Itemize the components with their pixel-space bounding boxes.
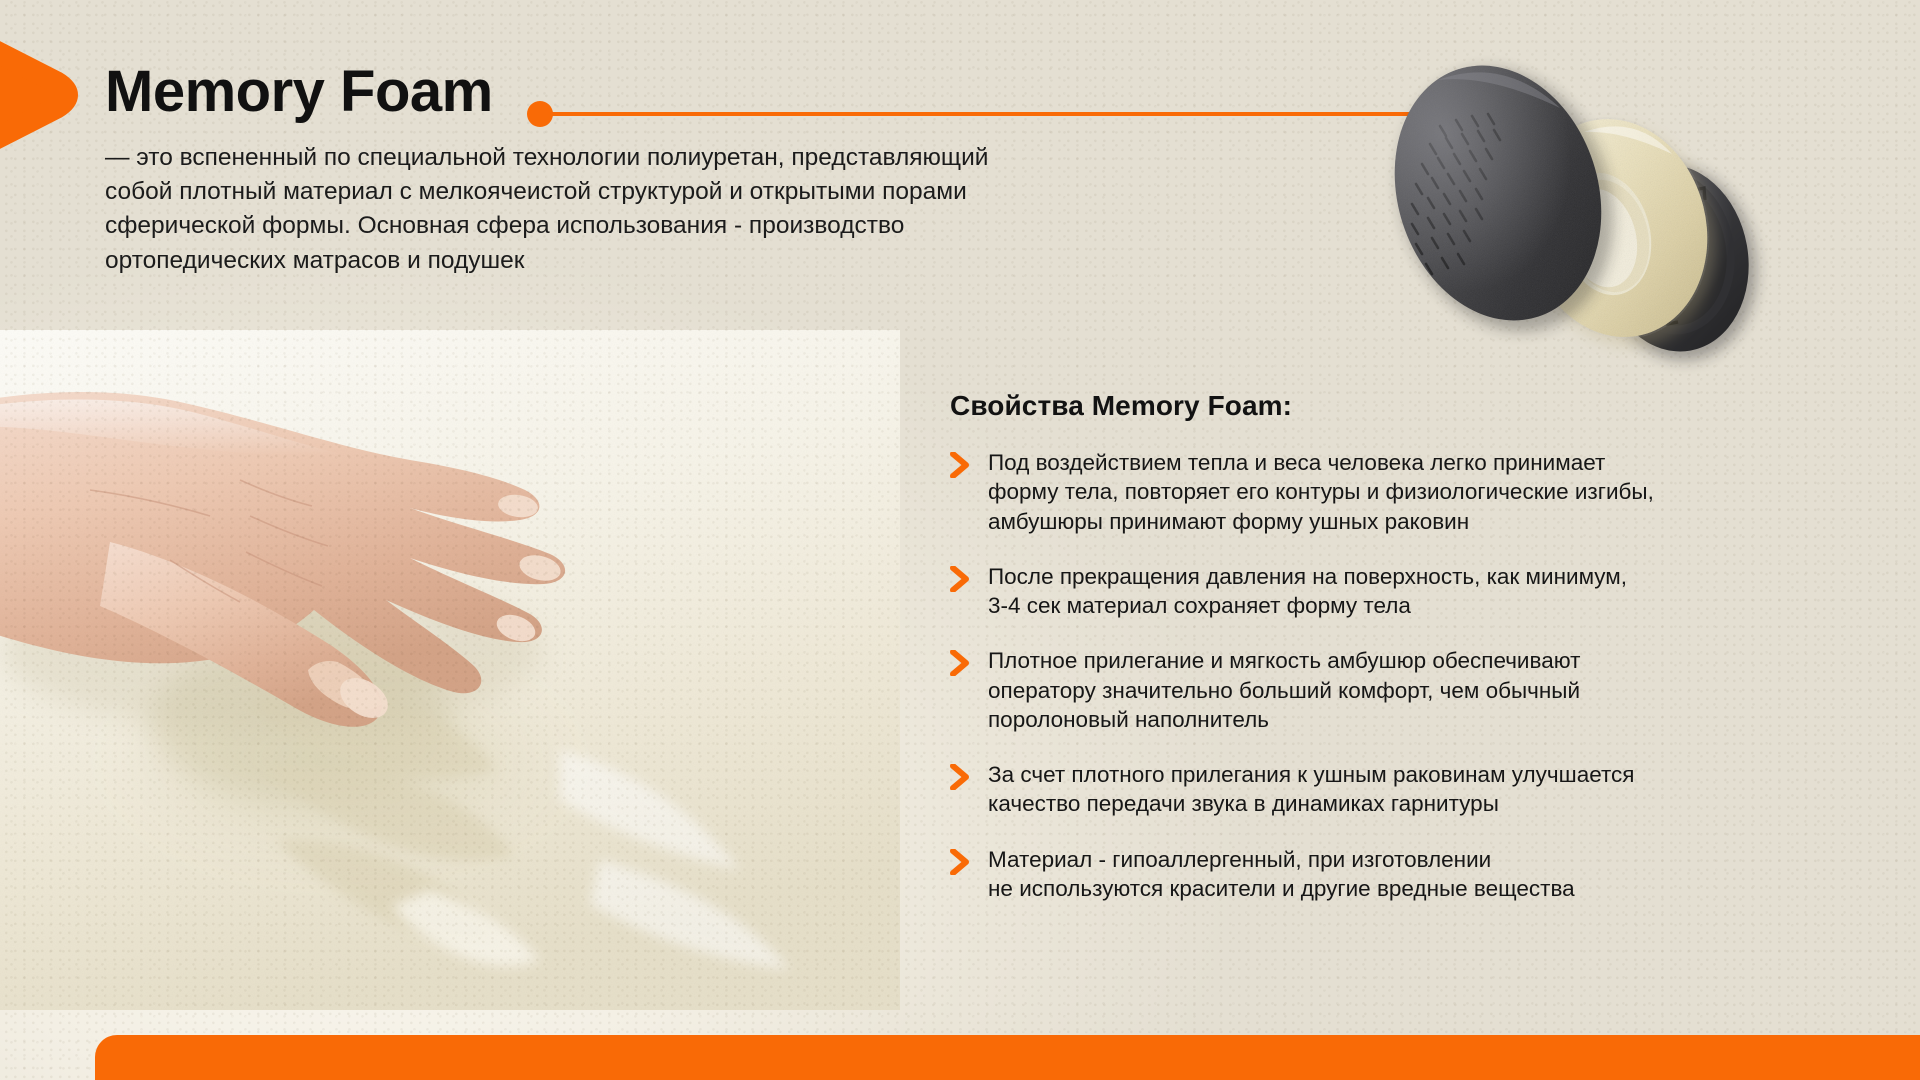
hand-on-foam-photo [0,330,900,1010]
list-item-text: После прекращения давления на поверхност… [988,562,1627,621]
title-block: Memory Foam — это вспененный по специаль… [105,62,1285,278]
properties-panel: Свойства Memory Foam: Под воздействием т… [950,390,1880,929]
slide-root: Memory Foam — это вспененный по специаль… [0,0,1920,1080]
list-item: После прекращения давления на поверхност… [950,562,1880,621]
list-item-text: За счет плотного прилегания к ушным рако… [988,760,1634,819]
corner-arrow-icon [0,10,110,180]
list-item-text: Материал - гипоаллергенный, при изготовл… [988,845,1575,904]
chevron-right-icon [950,760,988,795]
chevron-right-icon [950,562,988,597]
list-item-text: Под воздействием тепла и веса человека л… [988,448,1654,536]
properties-title: Свойства Memory Foam: [950,390,1880,422]
page-title: Memory Foam [105,62,493,123]
footer-bar [95,1035,1920,1080]
chevron-right-icon [950,448,988,483]
chevron-right-icon [950,646,988,681]
list-item: Под воздействием тепла и веса человека л… [950,448,1880,536]
chevron-right-icon [950,845,988,880]
list-item: Материал - гипоаллергенный, при изготовл… [950,845,1880,904]
earpad-exploded-image [1378,18,1798,398]
list-item: За счет плотного прилегания к ушным рако… [950,760,1880,819]
list-item: Плотное прилегание и мягкость амбушюр об… [950,646,1880,734]
intro-paragraph: — это вспененный по специальной технолог… [105,141,1245,278]
list-item-text: Плотное прилегание и мягкость амбушюр об… [988,646,1580,734]
